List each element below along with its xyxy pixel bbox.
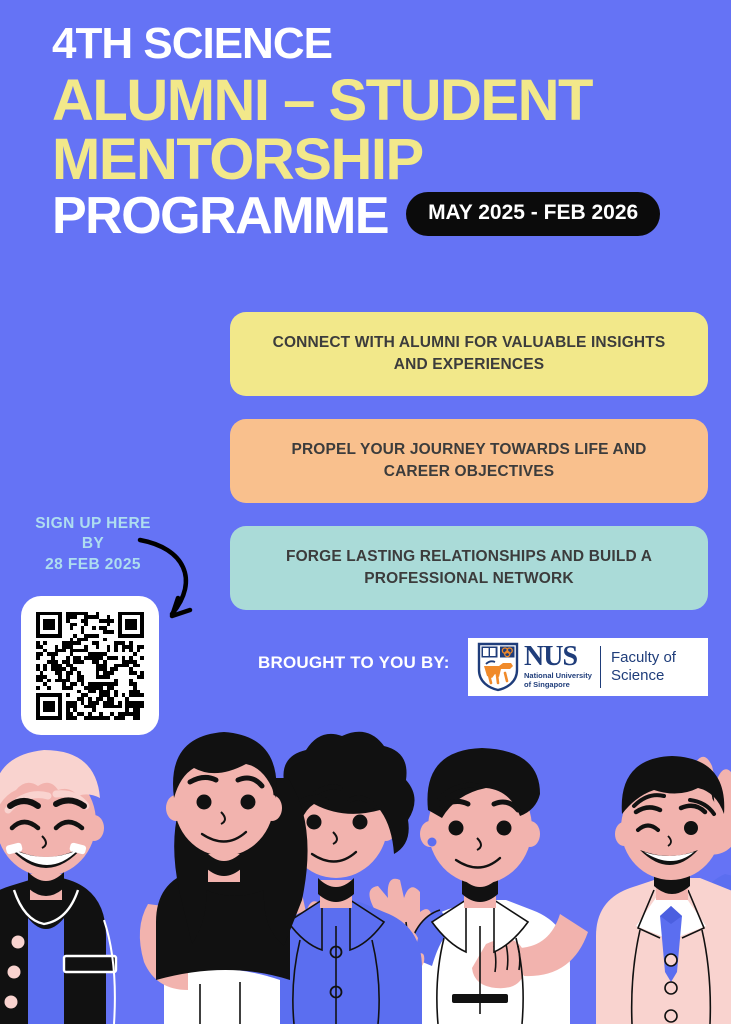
- faculty-line-2: Science: [611, 667, 676, 685]
- nus-wordmark: NUS National University of Singapore: [524, 645, 592, 689]
- nus-subtitle: National University of Singapore: [524, 671, 592, 689]
- headline-line-4-row: PROGRAMME MAY 2025 - FEB 2026: [52, 191, 712, 242]
- nus-crest-icon: [477, 642, 519, 692]
- headline-block: 4TH SCIENCE ALUMNI – STUDENT MENTORSHIP …: [52, 22, 712, 242]
- date-badge: MAY 2025 - FEB 2026: [406, 192, 660, 236]
- nus-subtitle-line-2: of Singapore: [524, 680, 592, 689]
- nus-logo-left: NUS National University of Singapore: [468, 638, 600, 696]
- headline-line-2: ALUMNI – STUDENT: [52, 73, 712, 130]
- faculty-line-1: Faculty of: [611, 649, 676, 667]
- benefit-item: CONNECT WITH ALUMNI FOR VALUABLE INSIGHT…: [230, 312, 708, 396]
- headline-line-3: MENTORSHIP: [52, 132, 712, 189]
- benefit-item: FORGE LASTING RELATIONSHIPS AND BUILD A …: [230, 526, 708, 610]
- nus-logo: NUS National University of Singapore Fac…: [468, 638, 708, 696]
- poster: 4TH SCIENCE ALUMNI – STUDENT MENTORSHIP …: [0, 0, 731, 1024]
- nus-name: NUS: [524, 645, 592, 669]
- benefit-item: PROPEL YOUR JOURNEY TOWARDS LIFE AND CAR…: [230, 419, 708, 503]
- benefits-list: CONNECT WITH ALUMNI FOR VALUABLE INSIGHT…: [230, 312, 708, 633]
- student-1: [0, 750, 116, 1024]
- nus-subtitle-line-1: National University: [524, 671, 592, 680]
- brought-to-you-by-label: BROUGHT TO YOU BY:: [258, 653, 450, 673]
- student-5: [596, 756, 731, 1024]
- students-illustration: [0, 694, 731, 1024]
- nus-faculty: Faculty of Science: [601, 638, 676, 696]
- headline-line-4: PROGRAMME: [52, 191, 388, 242]
- headline-line-1: 4TH SCIENCE: [52, 22, 712, 65]
